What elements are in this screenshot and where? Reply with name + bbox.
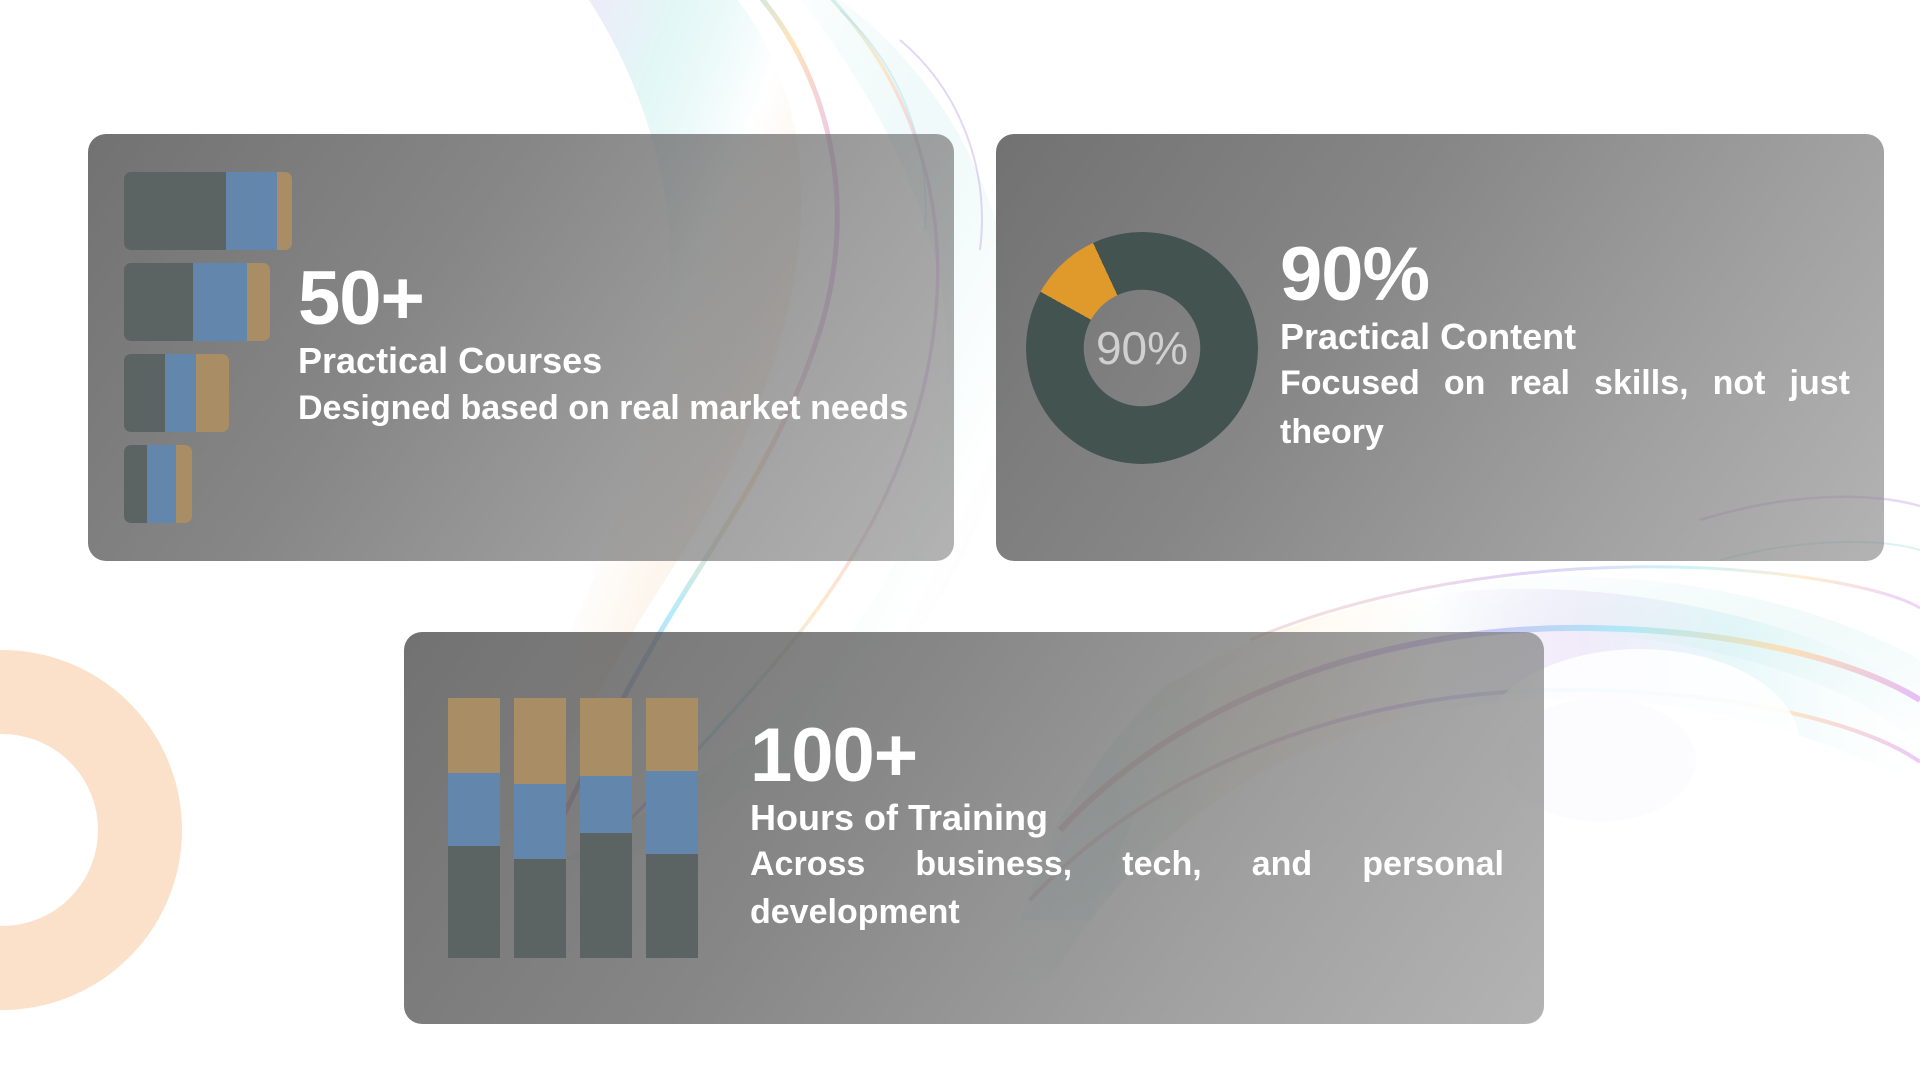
bar-segment-tan [448, 698, 500, 773]
slide-canvas: 50+ Practical Courses Designed based on … [0, 0, 1920, 1080]
vertical-bar-group [448, 698, 698, 958]
stat-value: 50+ [298, 263, 920, 336]
bar-segment-blue [193, 263, 247, 341]
horizontal-bar [124, 263, 270, 341]
bar-segment-blue [226, 172, 276, 250]
bar-segment-blue [646, 771, 698, 854]
stat-card-hours-of-training[interactable]: 100+ Hours of Training Across business, … [404, 632, 1544, 1024]
donut-chart: 90% [1026, 232, 1258, 464]
card-text-block: 50+ Practical Courses Designed based on … [298, 263, 920, 432]
bar-segment-dark [124, 354, 165, 432]
stat-label: Practical Courses [298, 338, 920, 383]
stat-card-practical-courses[interactable]: 50+ Practical Courses Designed based on … [88, 134, 954, 561]
donut-chart-icon: 90% [1026, 232, 1258, 464]
bar-segment-dark [514, 859, 566, 958]
bar-segment-dark [646, 854, 698, 958]
donut-center-label: 90% [1026, 232, 1258, 464]
vertical-bar [514, 698, 566, 958]
stat-label: Practical Content [1280, 314, 1850, 359]
horizontal-bar [124, 172, 292, 250]
vertical-bar [646, 698, 698, 958]
bar-segment-dark [124, 172, 226, 250]
bar-segment-tan [514, 698, 566, 784]
horizontal-bar-chart-icon [124, 172, 292, 523]
bar-segment-blue [580, 776, 632, 833]
stat-card-practical-content[interactable]: 90% 90% Practical Content Focused on rea… [996, 134, 1884, 561]
stat-description: Designed based on real market needs [298, 384, 920, 432]
bar-segment-dark [124, 445, 147, 523]
horizontal-bar-group [124, 172, 292, 523]
bar-segment-tan [247, 263, 270, 341]
bar-segment-tan [580, 698, 632, 776]
bar-segment-blue [147, 445, 176, 523]
bar-segment-dark [448, 846, 500, 958]
bar-segment-dark [580, 833, 632, 958]
bar-segment-tan [196, 354, 229, 432]
card-text-block: 100+ Hours of Training Across business, … [750, 720, 1504, 937]
horizontal-bar [124, 445, 192, 523]
card-text-block: 90% Practical Content Focused on real sk… [1280, 239, 1850, 456]
stat-value: 100+ [750, 720, 1504, 793]
stat-value: 90% [1280, 239, 1850, 312]
bar-segment-dark [124, 263, 193, 341]
horizontal-bar [124, 354, 229, 432]
bar-segment-tan [176, 445, 192, 523]
stat-description: Across business, tech, and personal deve… [750, 840, 1504, 937]
vertical-bar-chart-icon [448, 698, 698, 958]
vertical-bar [448, 698, 500, 958]
bar-segment-blue [448, 773, 500, 846]
peach-ring-decoration [0, 650, 182, 1010]
stat-label: Hours of Training [750, 795, 1504, 840]
bar-segment-tan [277, 172, 292, 250]
bar-segment-blue [165, 354, 197, 432]
bar-segment-blue [514, 784, 566, 859]
bar-segment-tan [646, 698, 698, 771]
vertical-bar [580, 698, 632, 958]
stat-description: Focused on real skills, not just theory [1280, 359, 1850, 456]
